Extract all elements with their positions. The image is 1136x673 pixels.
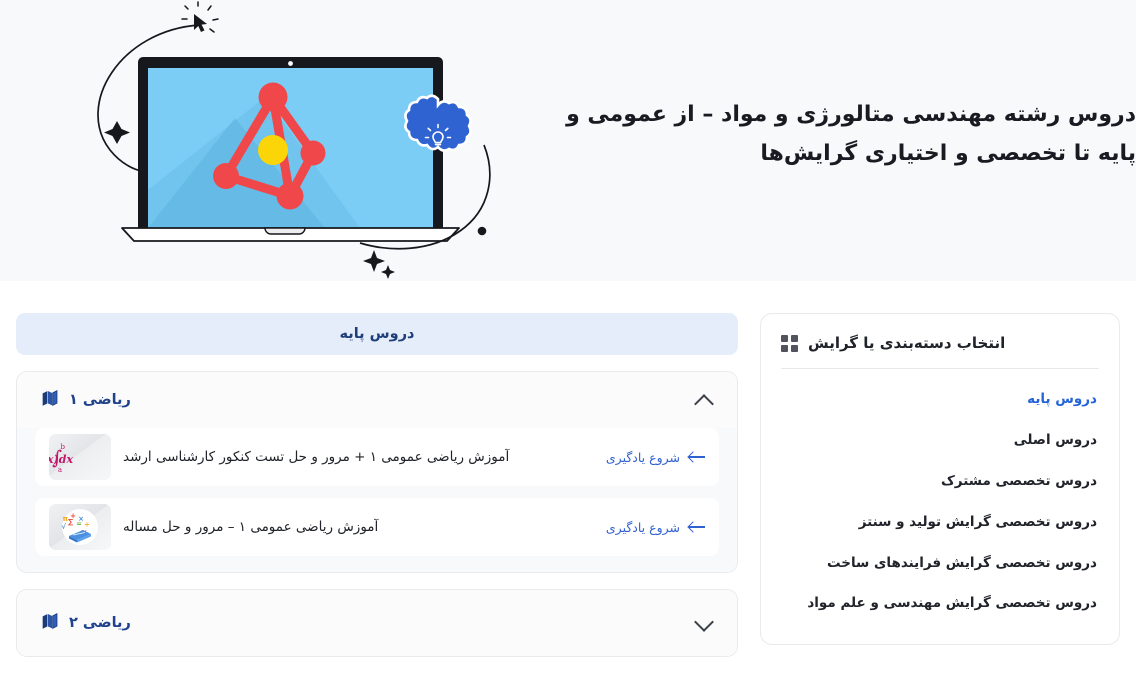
sidebar-item-tolid-va-sentez[interactable]: دروس تخصصی گرایش تولید و سنتز <box>781 502 1099 543</box>
sidebar-item-mohandesi-va-elm-mavad[interactable]: دروس تخصصی گرایش مهندسی و علم مواد <box>781 583 1099 624</box>
arrow-left-icon <box>689 521 705 533</box>
course-list-main: دروس پایه ریاضی ۱ <box>16 313 738 673</box>
math-symbols-book-thumb: π + × ÷ √ ∑ = % <box>49 504 111 550</box>
course-row[interactable]: شروع یادگیری آموزش ریاضی عمومی ۱ + مرور … <box>35 428 719 486</box>
svg-text:=: = <box>76 520 82 528</box>
laptop-molecule-illustration <box>60 0 520 281</box>
start-learning-link[interactable]: شروع یادگیری <box>606 450 705 465</box>
chevron-up-icon[interactable] <box>693 389 715 411</box>
grid-icon <box>781 335 798 352</box>
svg-text:f(x)dx: f(x)dx <box>49 453 73 466</box>
course-title: آموزش ریاضی عمومی ۱ + مرور و حل تست کنکو… <box>123 449 509 465</box>
accordion-header-riazi-1[interactable]: ریاضی ۱ <box>17 372 737 428</box>
sidebar-list: دروس پایه دروس اصلی دروس تخصصی مشترک درو… <box>781 379 1099 624</box>
section-banner: دروس پایه <box>16 313 738 355</box>
start-learning-link[interactable]: شروع یادگیری <box>606 520 705 535</box>
sidebar-item-doros-asli[interactable]: دروس اصلی <box>781 420 1099 461</box>
books-icon <box>39 610 61 636</box>
course-row[interactable]: شروع یادگیری آموزش ریاضی عمومی ۱ – مرور … <box>35 498 719 556</box>
start-learning-label: شروع یادگیری <box>606 520 680 535</box>
sidebar-item-takhasosi-moshtarak[interactable]: دروس تخصصی مشترک <box>781 461 1099 502</box>
accordion-riazi-2: ریاضی ۲ <box>16 589 738 657</box>
page-title: دروس رشته مهندسی متالورژی و مواد – از عم… <box>556 96 1136 173</box>
svg-text:b: b <box>61 443 66 451</box>
arrow-left-icon <box>689 451 705 463</box>
category-sidebar: انتخاب دسته‌بندی یا گرایش دروس پایه دروس… <box>760 313 1120 645</box>
svg-text:√: √ <box>61 523 66 531</box>
accordion-title: ریاضی ۲ <box>69 615 131 631</box>
sidebar-divider <box>781 368 1099 369</box>
accordion-title-wrap: ریاضی ۱ <box>39 387 131 413</box>
accordion-body-riazi-1: شروع یادگیری آموزش ریاضی عمومی ۱ + مرور … <box>17 428 737 572</box>
books-icon <box>39 387 61 413</box>
start-learning-label: شروع یادگیری <box>606 450 680 465</box>
course-info: آموزش ریاضی عمومی ۱ – مرور و حل مساله <box>49 504 378 550</box>
sidebar-item-farayandhaye-sakht[interactable]: دروس تخصصی گرایش فرایندهای ساخت <box>781 543 1099 584</box>
sidebar-item-doros-paye[interactable]: دروس پایه <box>781 379 1099 420</box>
sidebar-title: انتخاب دسته‌بندی یا گرایش <box>808 334 1005 352</box>
svg-text:÷: ÷ <box>84 521 90 529</box>
svg-text:∑: ∑ <box>68 518 73 526</box>
accordion-header-riazi-2[interactable]: ریاضی ۲ <box>17 590 737 656</box>
hero-section: دروس رشته مهندسی متالورژی و مواد – از عم… <box>0 0 1136 281</box>
course-info: آموزش ریاضی عمومی ۱ + مرور و حل تست کنکو… <box>49 434 509 480</box>
svg-text:a: a <box>58 466 62 474</box>
sidebar-header: انتخاب دسته‌بندی یا گرایش <box>781 332 1099 368</box>
accordion-title-wrap: ریاضی ۲ <box>39 610 131 636</box>
page-root: دروس رشته مهندسی متالورژی و مواد – از عم… <box>0 0 1136 673</box>
accordion-title: ریاضی ۱ <box>69 392 131 408</box>
integral-formula-thumb: ∫ b a f(x)dx <box>49 434 111 480</box>
content-area: انتخاب دسته‌بندی یا گرایش دروس پایه دروس… <box>0 281 1136 673</box>
accordion-riazi-1: ریاضی ۱ شروع یادگیری آموزش ریاضی عمومی ۱… <box>16 371 738 573</box>
course-title: آموزش ریاضی عمومی ۱ – مرور و حل مساله <box>123 519 378 535</box>
chevron-down-icon[interactable] <box>693 612 715 634</box>
